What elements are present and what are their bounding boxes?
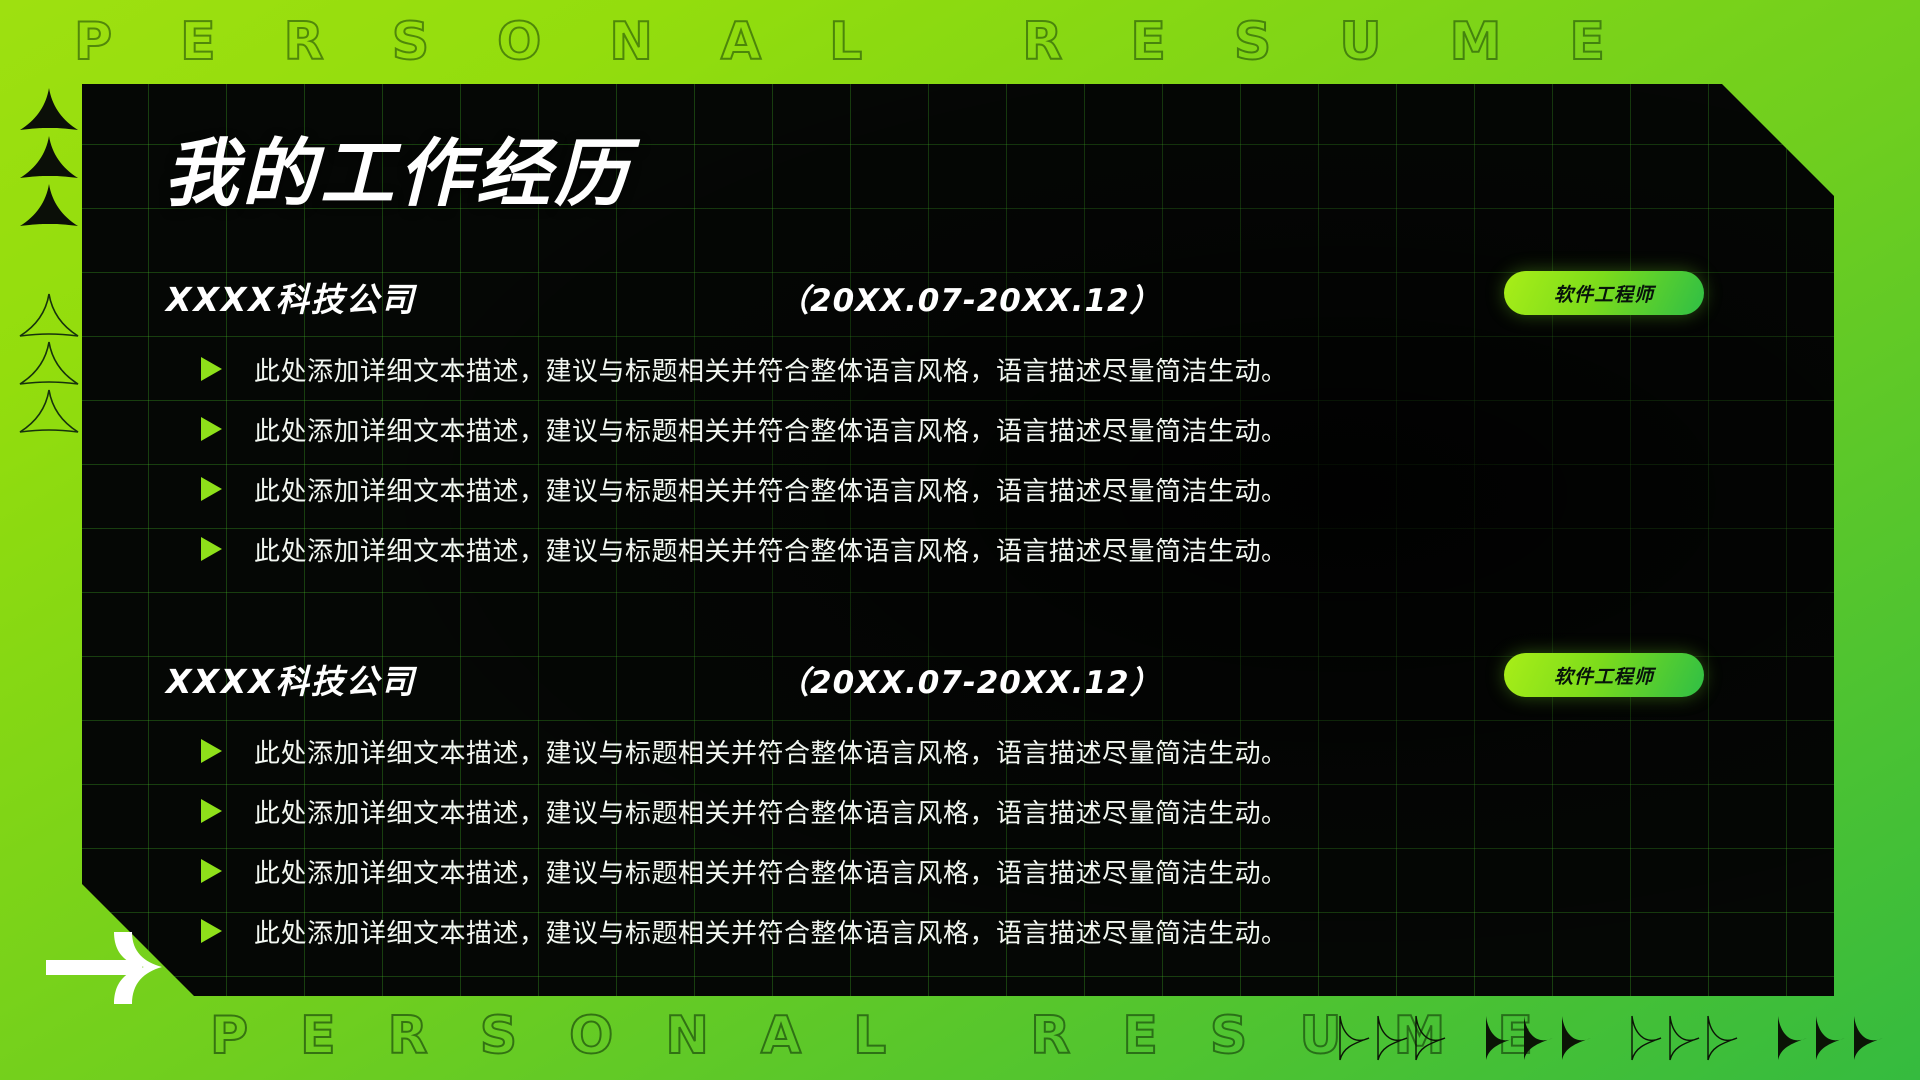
chevron-group-outline [1628,1014,1740,1062]
play-triangle-icon [198,738,224,764]
chevron-group-filled [1774,1014,1886,1062]
marquee-letter: O [569,1010,613,1062]
chevron-right-filled-icon [1774,1014,1810,1062]
marquee-letter: S [480,1010,517,1062]
list-item: 此处添加详细文本描述，建议与标题相关并符合整体语言风格，语言描述尽量简洁生动。 [166,901,1778,961]
list-item: 此处添加详细文本描述，建议与标题相关并符合整体语言风格，语言描述尽量简洁生动。 [166,841,1778,901]
play-triangle-icon [198,918,224,944]
chevron-group-outline [1336,1014,1448,1062]
filled-triangle-icon [18,86,80,138]
chevron-right-outline-icon [1704,1014,1740,1062]
experience-block: XXXX科技公司 （20XX.07-20XX.12） 软件工程师 此处添加详细文… [166,269,1778,579]
filled-triangle-icon [18,134,80,186]
marquee-letter: L [853,1010,886,1062]
chevron-right-filled-icon [1558,1014,1594,1062]
bullet-text: 此处添加详细文本描述，建议与标题相关并符合整体语言风格，语言描述尽量简洁生动。 [254,351,1288,388]
chevron-right-outline-icon [1374,1014,1410,1062]
marquee-letter: A [761,1010,801,1062]
role-badge[interactable]: 软件工程师 [1504,653,1704,697]
marquee-letter: L [829,16,862,68]
marquee-letter: E [1569,16,1605,68]
chevron-right-filled-icon [1482,1014,1518,1062]
bullet-text: 此处添加详细文本描述，建议与标题相关并符合整体语言风格，语言描述尽量简洁生动。 [254,913,1288,950]
employment-period: （20XX.07-20XX.12） [778,275,1162,320]
chevron-decoration-row [1336,1014,1886,1062]
chevron-right-outline-icon [1628,1014,1664,1062]
experience-header: XXXX科技公司 （20XX.07-20XX.12） 软件工程师 [166,269,1778,325]
outline-triangle-icon [18,340,80,392]
bullet-text: 此处添加详细文本描述，建议与标题相关并符合整体语言风格，语言描述尽量简洁生动。 [254,411,1288,448]
company-name: XXXX科技公司 [166,655,778,703]
marquee-letter: N [609,16,653,68]
list-item: 此处添加详细文本描述，建议与标题相关并符合整体语言风格，语言描述尽量简洁生动。 [166,781,1778,841]
experience-block: XXXX科技公司 （20XX.07-20XX.12） 软件工程师 此处添加详细文… [166,651,1778,961]
bullet-list: 此处添加详细文本描述，建议与标题相关并符合整体语言风格，语言描述尽量简洁生动。 … [166,721,1778,961]
page-title: 我的工作经历 [164,134,1778,215]
chevron-right-filled-icon [1850,1014,1886,1062]
list-item: 此处添加详细文本描述，建议与标题相关并符合整体语言风格，语言描述尽量简洁生动。 [166,399,1778,459]
bullet-text: 此处添加详细文本描述，建议与标题相关并符合整体语言风格，语言描述尽量简洁生动。 [254,471,1288,508]
list-item: 此处添加详细文本描述，建议与标题相关并符合整体语言风格，语言描述尽量简洁生动。 [166,339,1778,399]
top-marquee-text: PERSONALRESUME [0,16,1673,68]
list-item: 此处添加详细文本描述，建议与标题相关并符合整体语言风格，语言描述尽量简洁生动。 [166,519,1778,579]
marquee-letter: M [1450,16,1502,68]
marquee-letter: S [1210,1010,1247,1062]
arrow-right-icon [40,926,186,1010]
marquee-letter: S [392,16,429,68]
marquee-letter: E [1130,16,1166,68]
chevron-right-outline-icon [1412,1014,1448,1062]
bullet-list: 此处添加详细文本描述，建议与标题相关并符合整体语言风格，语言描述尽量简洁生动。 … [166,339,1778,579]
chevron-right-outline-icon [1666,1014,1702,1062]
marquee-letter: O [497,16,541,68]
list-item: 此处添加详细文本描述，建议与标题相关并符合整体语言风格，语言描述尽量简洁生动。 [166,721,1778,781]
chevron-right-filled-icon [1812,1014,1848,1062]
marquee-letter: U [1339,16,1381,68]
company-name: XXXX科技公司 [166,273,778,321]
marquee-letter: A [721,16,761,68]
play-triangle-icon [198,858,224,884]
bullet-text: 此处添加详细文本描述，建议与标题相关并符合整体语言风格，语言描述尽量简洁生动。 [254,531,1288,568]
employment-period: （20XX.07-20XX.12） [778,657,1162,702]
marquee-letter: P [74,16,112,68]
play-triangle-icon [198,536,224,562]
play-triangle-icon [198,356,224,382]
chevron-group-filled [1482,1014,1594,1062]
marquee-letter: E [1122,1010,1158,1062]
top-marquee-band: PERSONALRESUME [0,0,1920,84]
experience-header: XXXX科技公司 （20XX.07-20XX.12） 软件工程师 [166,651,1778,707]
marquee-letter: R [1022,16,1062,68]
marquee-letter: P [210,1010,248,1062]
bullet-text: 此处添加详细文本描述，建议与标题相关并符合整体语言风格，语言描述尽量简洁生动。 [254,853,1288,890]
outline-triangle-icon [18,388,80,440]
filled-triangle-icon [18,182,80,234]
bullet-text: 此处添加详细文本描述，建议与标题相关并符合整体语言风格，语言描述尽量简洁生动。 [254,793,1288,830]
chevron-right-filled-icon [1520,1014,1556,1062]
marquee-letter: R [388,1010,428,1062]
marquee-letter: E [180,16,216,68]
marquee-letter: S [1234,16,1271,68]
bullet-text: 此处添加详细文本描述，建议与标题相关并符合整体语言风格，语言描述尽量简洁生动。 [254,733,1288,770]
chevron-right-outline-icon [1336,1014,1372,1062]
list-item: 此处添加详细文本描述，建议与标题相关并符合整体语言风格，语言描述尽量简洁生动。 [166,459,1778,519]
outline-triangle-icon [18,292,80,344]
role-badge[interactable]: 软件工程师 [1504,271,1704,315]
marquee-letter: R [1030,1010,1070,1062]
content-panel: 我的工作经历 XXXX科技公司 （20XX.07-20XX.12） 软件工程师 … [82,84,1834,996]
play-triangle-icon [198,416,224,442]
left-triangle-decoration [18,86,90,436]
marquee-letter: E [300,1010,336,1062]
marquee-letter: R [284,16,324,68]
play-triangle-icon [198,798,224,824]
play-triangle-icon [198,476,224,502]
marquee-letter: N [665,1010,709,1062]
